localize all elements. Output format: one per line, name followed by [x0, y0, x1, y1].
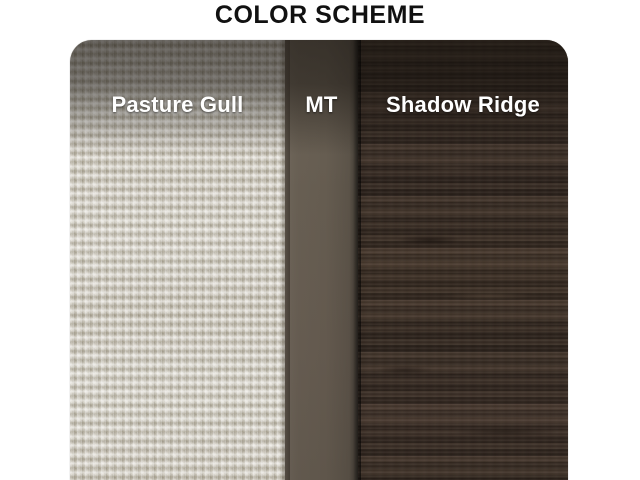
swatch-panel-shadow-ridge[interactable]: Shadow Ridge: [358, 40, 568, 480]
swatch-label-mt: MT: [285, 92, 358, 118]
swatch-panel-pasture-gull[interactable]: Pasture Gull: [70, 40, 285, 480]
page-title: COLOR SCHEME: [0, 0, 640, 34]
swatch-panel-mt[interactable]: MT: [285, 40, 358, 480]
swatch-label-shadow-ridge: Shadow Ridge: [358, 92, 568, 118]
swatch-label-pasture-gull: Pasture Gull: [70, 92, 285, 118]
color-scheme-swatch-board: Pasture Gull MT Shadow Ridge: [70, 40, 568, 480]
